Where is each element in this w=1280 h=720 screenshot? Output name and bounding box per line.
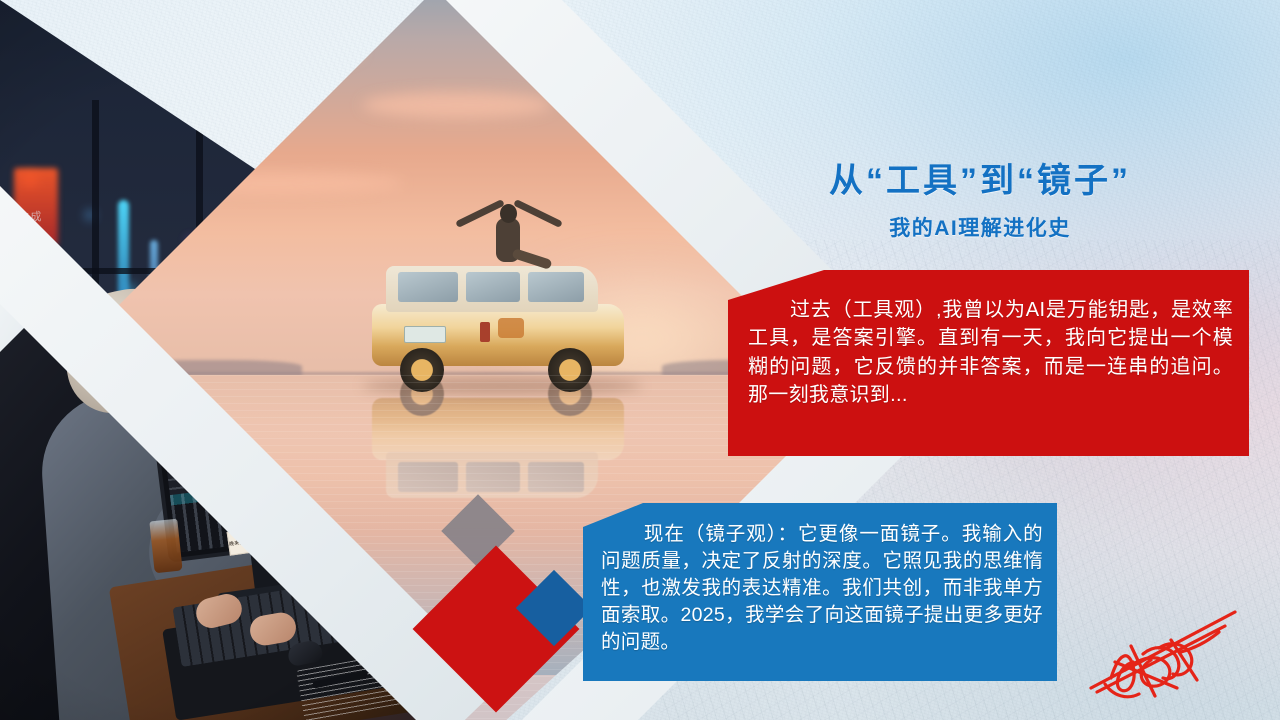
- cloud-2: [212, 38, 362, 66]
- panel-past-text: 过去（工具观）,我曾以为AI是万能钥匙，是效率工具，是答案引擎。直到有一天，我向…: [748, 296, 1233, 410]
- suv-vehicle: [372, 260, 632, 390]
- slide-canvas: 晚来天欲雪 能饮一杯无 AI生成: [0, 0, 1280, 720]
- suv-window-middle: [466, 272, 520, 302]
- person-on-roof-head: [500, 204, 517, 223]
- tail-light: [480, 322, 490, 342]
- license-plate: [404, 326, 446, 343]
- panel-now-text: 现在（镜子观）：它更像一面镜子。我输入的问题质量，决定了反射的深度。它照见我的思…: [601, 521, 1043, 656]
- suv-window-front: [528, 272, 584, 302]
- panel-now-mirror-view[interactable]: 现在（镜子观）：它更像一面镜子。我输入的问题质量，决定了反射的深度。它照见我的思…: [583, 503, 1057, 681]
- page-title: 从“工具”到“镜子”: [700, 153, 1260, 202]
- ai-generated-watermark: AI生成: [6, 208, 42, 224]
- door-badge: [498, 318, 524, 338]
- panel-past-tool-view[interactable]: 过去（工具观）,我曾以为AI是万能钥匙，是效率工具，是答案引擎。直到有一天，我向…: [728, 270, 1249, 456]
- suv-window-rear: [398, 272, 458, 302]
- handwritten-signature: [1085, 592, 1255, 712]
- page-subtitle: 我的AI理解进化史: [700, 212, 1260, 242]
